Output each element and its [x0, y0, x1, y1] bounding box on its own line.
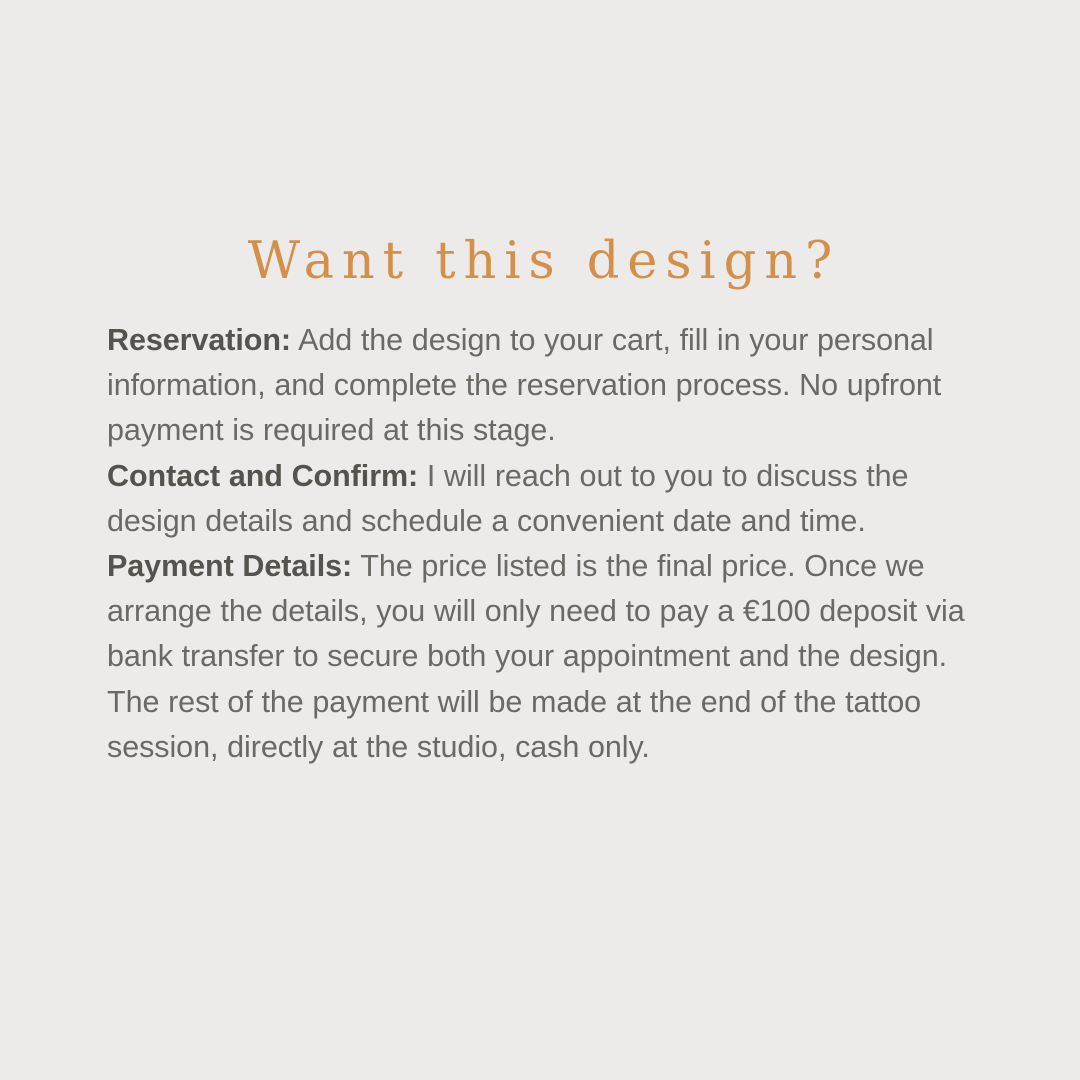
- paragraph-label-payment-details: Payment Details:: [107, 549, 352, 583]
- paragraph-contact-and-confirm: Contact and Confirm: I will reach out to…: [107, 454, 987, 544]
- page-title: Want this design?: [0, 230, 1080, 294]
- paragraph-label-reservation: Reservation:: [107, 323, 291, 357]
- body-copy: Reservation: Add the design to your cart…: [107, 318, 987, 770]
- promo-card: Want this design? Reservation: Add the d…: [0, 0, 1080, 1080]
- paragraph-payment-details: Payment Details: The price listed is the…: [107, 544, 987, 770]
- paragraph-reservation: Reservation: Add the design to your cart…: [107, 318, 987, 454]
- paragraph-label-contact-and-confirm: Contact and Confirm:: [107, 459, 418, 493]
